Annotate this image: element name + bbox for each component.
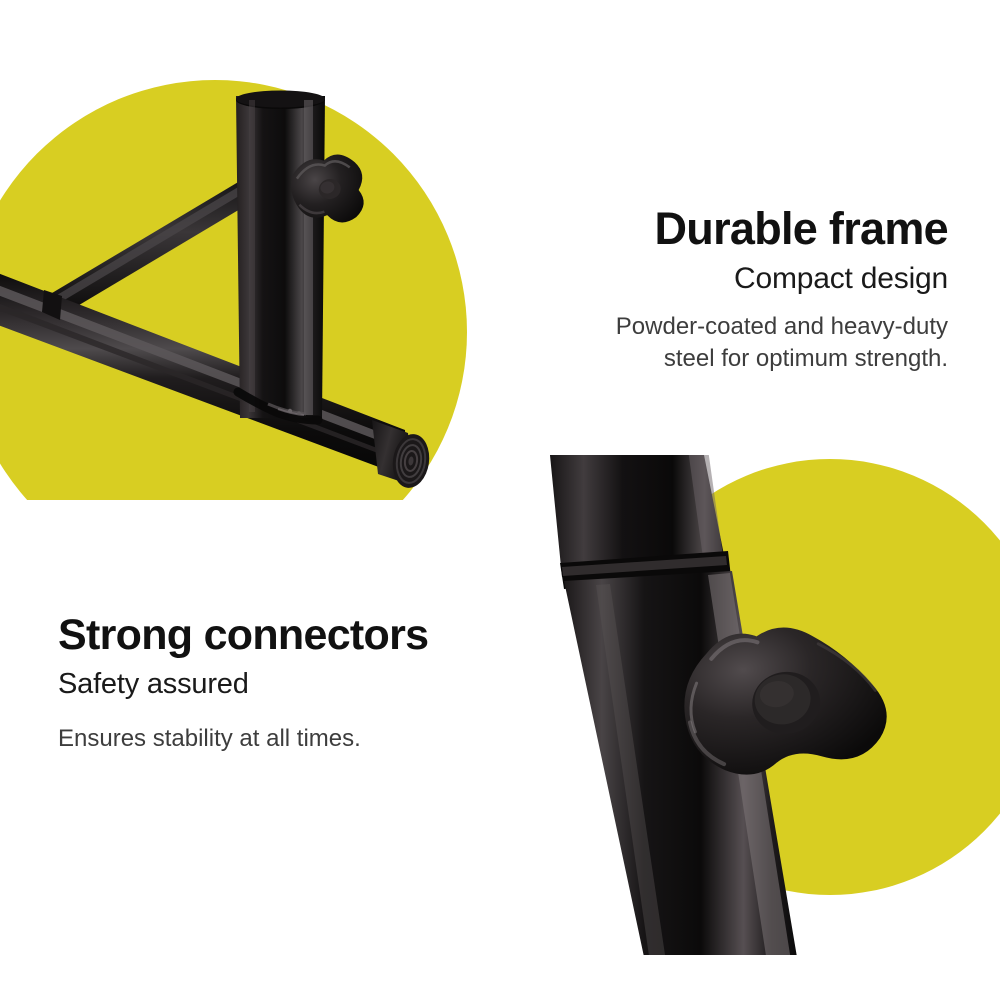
feature-subheading-strong-connectors: Safety assured	[58, 666, 538, 702]
vertical-tube	[236, 91, 325, 419]
feature-body-line: Ensures stability at all times.	[58, 723, 538, 755]
knob-closeup-illustration	[500, 455, 1000, 955]
feature-block-durable-frame: Durable frame Compact design Powder-coat…	[478, 205, 948, 374]
feature-body-strong-connectors: Ensures stability at all times.	[58, 723, 538, 755]
feature-body-line: steel for optimum strength.	[478, 343, 948, 375]
photo-knob-closeup	[500, 455, 1000, 955]
feature-body-line: Powder-coated and heavy-duty	[478, 311, 948, 343]
feature-body-durable-frame: Powder-coated and heavy-duty steel for o…	[478, 311, 948, 374]
feature-subheading-durable-frame: Compact design	[478, 260, 948, 298]
photo-frame-junction	[0, 0, 500, 500]
frame-junction-illustration	[0, 0, 500, 500]
product-feature-stage: Durable frame Compact design Powder-coat…	[0, 0, 1000, 1000]
feature-heading-durable-frame: Durable frame	[478, 205, 948, 254]
feature-heading-strong-connectors: Strong connectors	[58, 612, 538, 658]
feature-block-strong-connectors: Strong connectors Safety assured Ensures…	[58, 612, 538, 754]
